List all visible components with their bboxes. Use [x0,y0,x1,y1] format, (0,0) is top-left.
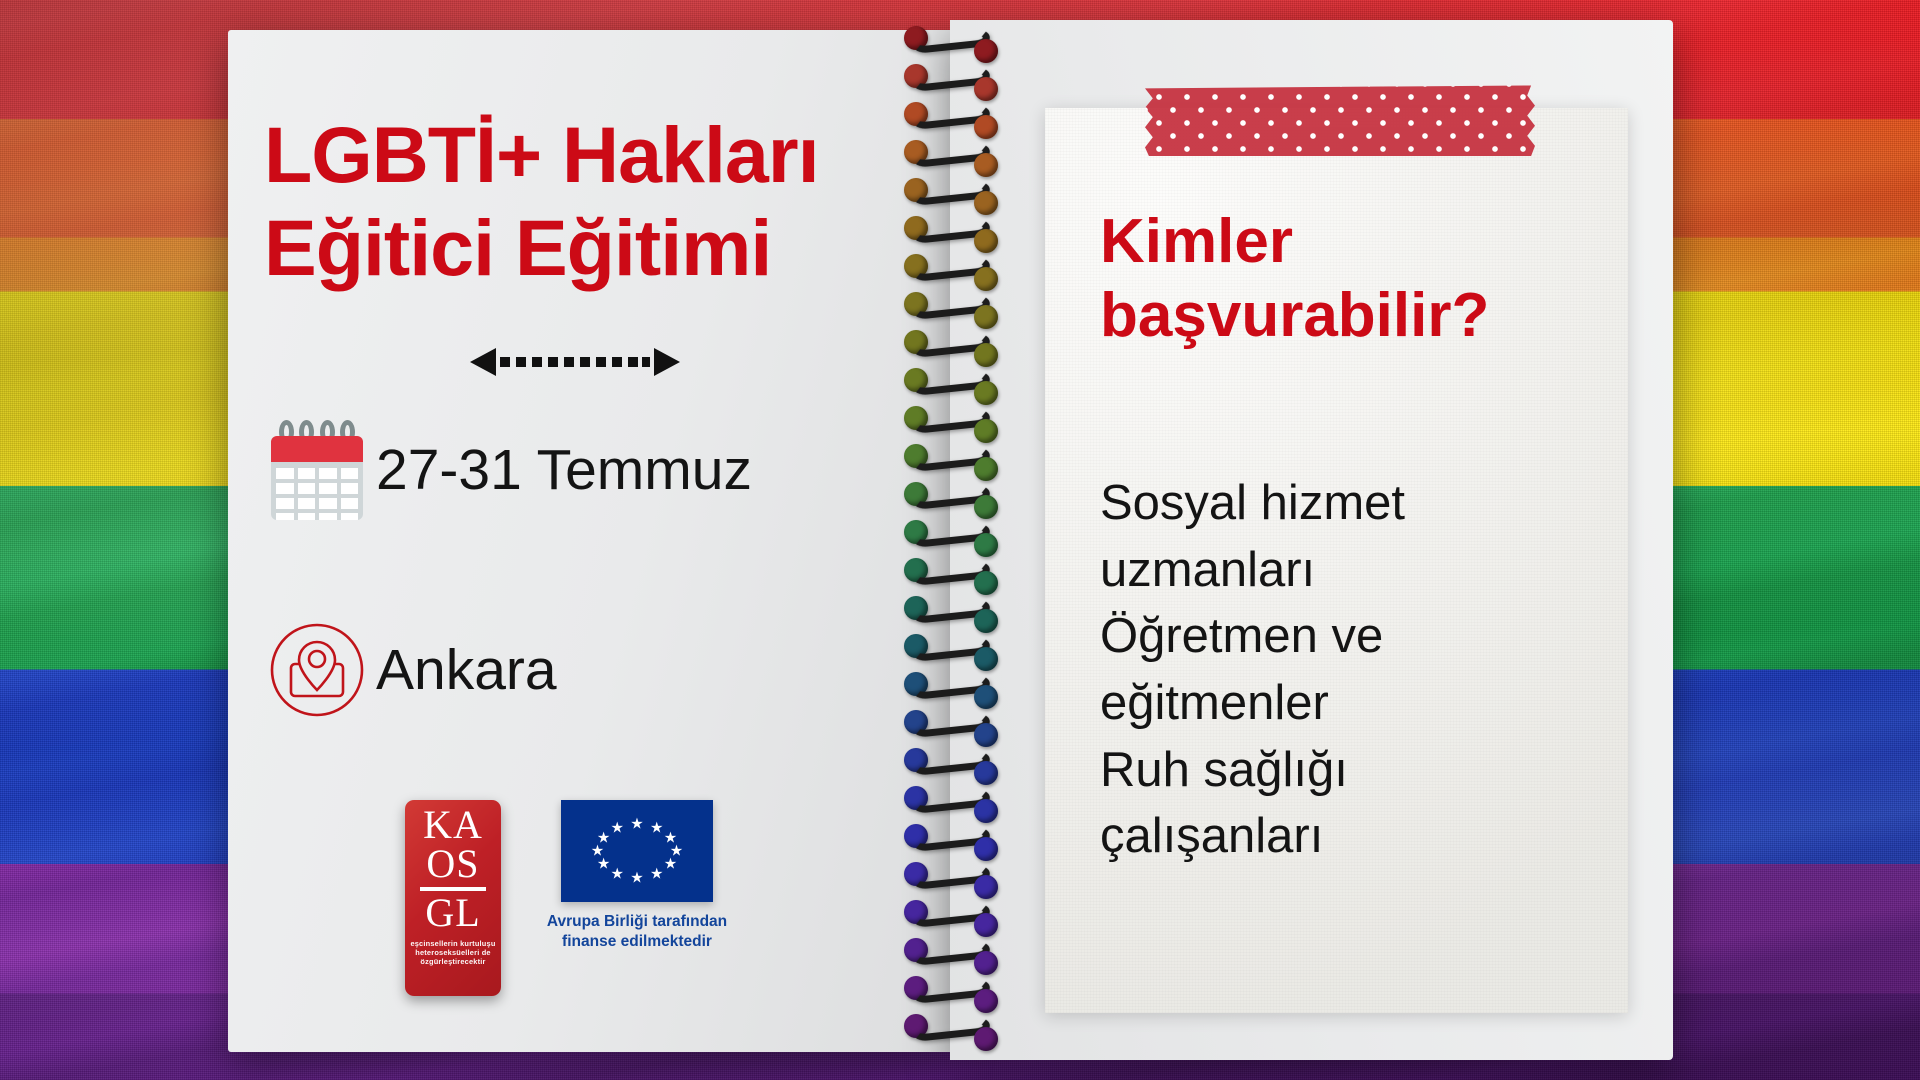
eligibility-line: Öğretmen ve [1100,603,1600,670]
right-heading-line-1: Kimler [1100,205,1620,279]
kaos-tagline: eşcinsellerin kurtuluşu heteroseksüeller… [405,933,501,966]
kaos-line-2: OS [405,844,501,883]
map-pin-circle-icon [267,620,367,720]
calendar-icon-wrap [258,420,376,520]
calendar-icon [267,420,367,520]
event-location: Ankara [376,637,557,703]
page-title: LGBTİ+ Hakları Eğitici Eğitimi [264,108,904,294]
logo-group: KA OS GL eşcinsellerin kurtuluşu heteros… [405,800,742,996]
eu-caption-line-2: finanse edilmektedir [532,932,742,952]
dotted-arrow-divider [470,345,680,379]
title-line-2: Eğitici Eğitimi [264,201,904,294]
right-page-heading: Kimler başvurabilir? [1100,205,1620,354]
kaos-line-3: GL [405,893,501,932]
eu-caption-line-1: Avrupa Birliği tarafından [532,912,742,932]
double-headed-dotted-arrow-icon [470,345,680,379]
eligibility-line: çalışanları [1100,803,1600,870]
polka-dot-washi-tape [1145,84,1535,156]
eligibility-line: eğitmenler [1100,670,1600,737]
calendar-header-band [271,436,363,462]
eu-funding-caption: Avrupa Birliği tarafından finanse edilme… [532,912,742,952]
date-row: 27-31 Temmuz [258,420,752,520]
european-union-logo: ★ ★ ★ ★ ★ ★ ★ ★ ★ ★ ★ ★ Avrupa Birliği t… [561,800,742,952]
calendar-day-grid [271,462,363,520]
kaos-gl-logo: KA OS GL eşcinsellerin kurtuluşu heteros… [405,800,501,996]
event-date: 27-31 Temmuz [376,437,752,503]
calendar-body [271,436,363,520]
location-icon-wrap [258,620,376,720]
open-notebook: LGBTİ+ Hakları Eğitici Eğitimi [0,0,1920,1080]
right-heading-line-2: başvurabilir? [1100,279,1620,353]
eligibility-line: Sosyal hizmet [1100,470,1600,537]
eligibility-line: Ruh sağlığı [1100,737,1600,804]
eligibility-list: Sosyal hizmet uzmanları Öğretmen ve eğit… [1100,470,1600,870]
location-row: Ankara [258,620,557,720]
eu-flag: ★ ★ ★ ★ ★ ★ ★ ★ ★ ★ ★ ★ [561,800,713,902]
kaos-line-1: KA [405,805,501,844]
eligibility-line: uzmanları [1100,537,1600,604]
title-line-1: LGBTİ+ Hakları [264,110,819,199]
